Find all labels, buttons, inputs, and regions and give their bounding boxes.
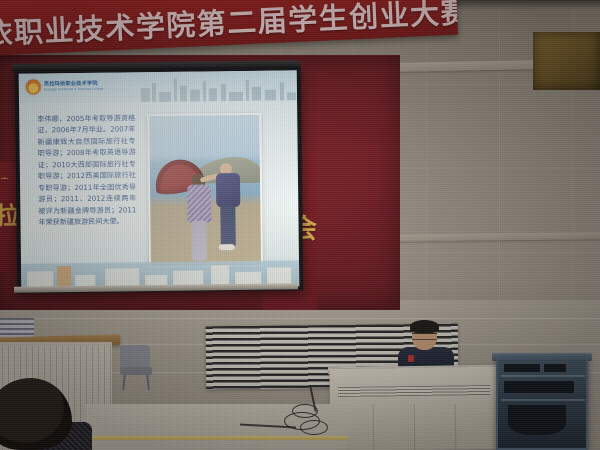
foreground-audience-member: [0, 378, 90, 450]
slide-body-text: 李伟娜，2005年考取导游资格证，2006年7月毕业。2007年新疆康辉大自然国…: [37, 112, 136, 228]
amber-wall-panel: [533, 32, 600, 90]
projection-screen-frame: 克拉玛依职业技术学院 Karamay Vocational & Technica…: [15, 66, 304, 293]
slide-photo: [147, 113, 263, 268]
photo-person-with-umbrella: [186, 173, 213, 259]
control-desk-panels: [332, 403, 499, 450]
refinery-skyline-icon: [137, 74, 297, 102]
sun-emblem-icon: [26, 79, 41, 94]
operator-lapel-badge: [408, 355, 414, 362]
slide-institution-logo: 克拉玛依职业技术学院 Karamay Vocational & Technica…: [26, 79, 104, 95]
photo-person-standing: [216, 163, 243, 249]
projection-screen-surface: 克拉玛依职业技术学院 Karamay Vocational & Technica…: [19, 70, 300, 289]
slide-header: 克拉玛依职业技术学院 Karamay Vocational & Technica…: [19, 70, 297, 103]
photograph-scene: قاراماي 大会 ـىـ 拉玛 依职业技术学院第二届学生创业大赛: [0, 0, 600, 450]
stage-chair: [120, 345, 152, 389]
audience-hair: [0, 378, 72, 450]
glasses-icon: [412, 333, 437, 340]
stage-edge-strip: [86, 436, 348, 440]
backdrop-left-uyghur-text: ـىـ: [1, 172, 8, 181]
coiled-cable-extra: [300, 420, 328, 435]
logo-institution-en: Karamay Vocational & Technical College: [44, 88, 104, 92]
operator-hair: [410, 320, 439, 333]
equipment-rack: [496, 357, 588, 450]
control-desk-slats: [338, 385, 490, 397]
